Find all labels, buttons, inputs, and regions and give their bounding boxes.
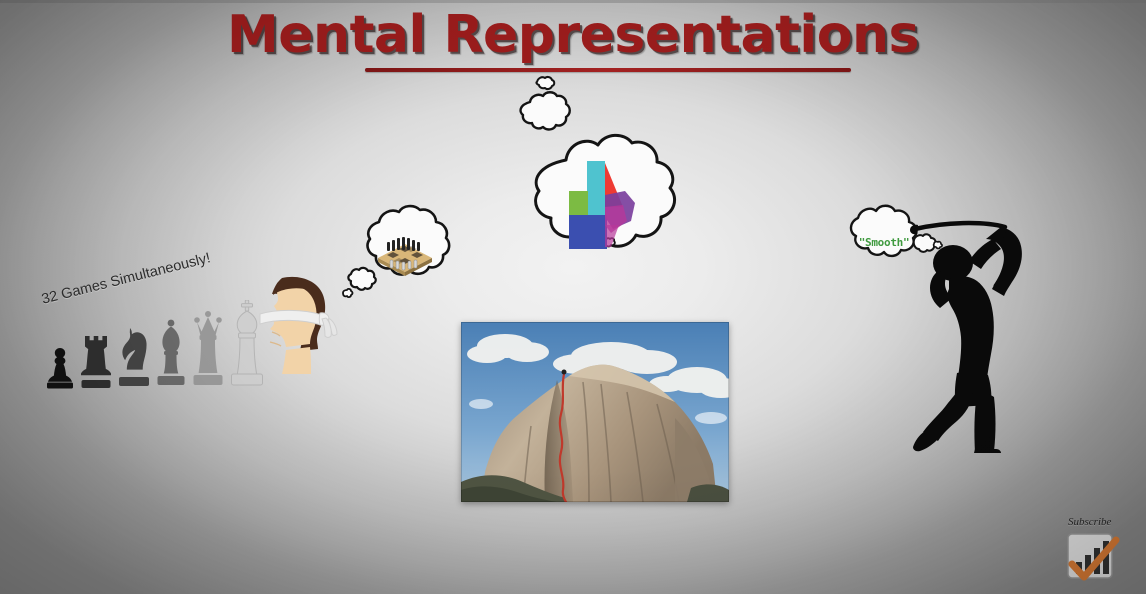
queen-icon xyxy=(192,310,224,390)
chess-pieces-group: 32 Games Simultaneously! xyxy=(38,280,258,390)
page-title: Mental Representations xyxy=(227,8,919,63)
chess-piece-pawn xyxy=(46,344,74,390)
chess-caption: 32 Games Simultaneously! xyxy=(40,250,212,307)
head-icon xyxy=(252,272,347,377)
slide-canvas: Mental Representations 32 Games Simultan… xyxy=(0,0,1146,594)
bishop-icon xyxy=(156,318,186,390)
chess-board-image xyxy=(374,232,436,278)
title-container: Mental Representations xyxy=(0,8,1146,63)
chess-piece-bishop xyxy=(156,318,186,390)
pawn-icon xyxy=(46,344,74,390)
knight-icon xyxy=(118,324,150,390)
blindfolded-head xyxy=(252,272,347,377)
bar-chart-icon xyxy=(1064,530,1120,584)
subscribe-watermark[interactable]: Subscribe xyxy=(1052,516,1138,588)
golfer-silhouette xyxy=(905,205,1035,455)
rook-icon xyxy=(81,332,111,390)
chess-piece-knight xyxy=(118,324,150,390)
subscribe-label: Subscribe xyxy=(1068,516,1111,528)
chess-piece-rook xyxy=(81,332,111,390)
half-dome-photo xyxy=(461,322,729,502)
abstract-color-shape xyxy=(561,155,639,251)
chess-piece-queen xyxy=(192,310,224,390)
top-edge-line xyxy=(0,0,1146,3)
half-dome-image xyxy=(461,322,729,502)
